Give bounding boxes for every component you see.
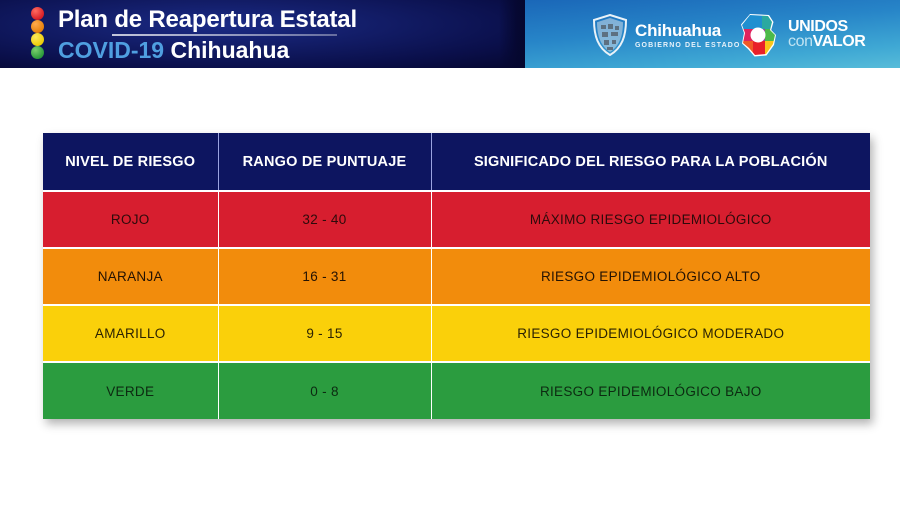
cell-nivel-naranja: NARANJA [43, 248, 218, 305]
valor-label: VALOR [813, 33, 866, 50]
cell-significado-rojo: MÁXIMO RIESGO EPIDEMIOLÓGICO [431, 191, 870, 248]
slide-root: Plan de Reapertura Estatal COVID-19 Chih… [0, 0, 900, 506]
table-header-row: NIVEL DE RIESGO RANGO DE PUNTUAJE SIGNIF… [43, 133, 870, 191]
cell-rango-naranja: 16 - 31 [218, 248, 431, 305]
column-header-significado-del-riesgo: SIGNIFICADO DEL RIESGO PARA LA POBLACIÓN [431, 133, 870, 191]
title-underline-rule [112, 34, 337, 36]
table-row: NARANJA 16 - 31 RIESGO EPIDEMIOLÓGICO AL… [43, 248, 870, 305]
table-row: VERDE 0 - 8 RIESGO EPIDEMIOLÓGICO BAJO [43, 362, 870, 419]
gov-logo-name: Chihuahua [635, 22, 740, 39]
cell-rango-amarillo: 9 - 15 [218, 305, 431, 362]
column-header-rango-de-puntuaje: RANGO DE PUNTUAJE [218, 133, 431, 191]
cell-significado-amarillo: RIESGO EPIDEMIOLÓGICO MODERADO [431, 305, 870, 362]
traffic-light-icon [31, 7, 48, 61]
column-header-nivel-de-riesgo: NIVEL DE RIESGO [43, 133, 218, 191]
con-valor-label: conVALOR [788, 35, 865, 50]
chihuahua-state-map-icon [737, 13, 783, 57]
gov-logo-subtitle: GOBIERNO DEL ESTADO [635, 42, 740, 49]
traffic-light-red-icon [31, 7, 44, 20]
cell-rango-verde: 0 - 8 [218, 362, 431, 419]
traffic-light-yellow-icon [31, 33, 44, 46]
cell-significado-verde: RIESGO EPIDEMIOLÓGICO BAJO [431, 362, 870, 419]
cell-nivel-rojo: ROJO [43, 191, 218, 248]
table-row: AMARILLO 9 - 15 RIESGO EPIDEMIOLÓGICO MO… [43, 305, 870, 362]
unidos-con-valor-logo: UNIDOS conVALOR [737, 12, 865, 58]
page-subtitle: COVID-19 Chihuahua [58, 37, 357, 64]
cell-nivel-verde: VERDE [43, 362, 218, 419]
subtitle-covid-label: COVID-19 [58, 37, 164, 63]
cell-nivel-amarillo: AMARILLO [43, 305, 218, 362]
traffic-light-orange-icon [31, 20, 44, 33]
risk-level-table: NIVEL DE RIESGO RANGO DE PUNTUAJE SIGNIF… [43, 133, 870, 419]
unidos-logo-text: UNIDOS conVALOR [788, 20, 865, 49]
gov-logo-text: Chihuahua GOBIERNO DEL ESTADO [635, 22, 740, 49]
cell-rango-rojo: 32 - 40 [218, 191, 431, 248]
banner-title-block: Plan de Reapertura Estatal COVID-19 Chih… [58, 6, 357, 64]
gobierno-chihuahua-logo: Chihuahua GOBIERNO DEL ESTADO [592, 13, 740, 57]
subtitle-state-label: Chihuahua [170, 37, 289, 63]
page-title: Plan de Reapertura Estatal [58, 6, 357, 34]
con-label: con [788, 33, 813, 50]
table-row: ROJO 32 - 40 MÁXIMO RIESGO EPIDEMIOLÓGIC… [43, 191, 870, 248]
top-banner: Plan de Reapertura Estatal COVID-19 Chih… [0, 0, 900, 68]
traffic-light-green-icon [31, 46, 44, 59]
chihuahua-shield-icon [592, 14, 628, 56]
cell-significado-naranja: RIESGO EPIDEMIOLÓGICO ALTO [431, 248, 870, 305]
